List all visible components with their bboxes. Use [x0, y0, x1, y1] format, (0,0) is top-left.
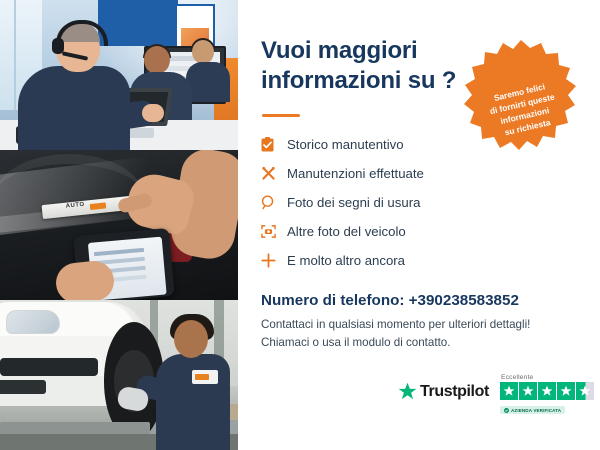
magnifier-icon [261, 193, 287, 213]
trustpilot-star-icon [398, 382, 417, 401]
list-item: Foto dei segni di usura [261, 188, 581, 217]
star-filled [519, 382, 537, 400]
technician-hand-lower [54, 259, 116, 300]
wall-panel [98, 0, 178, 46]
list-item-label: Storico manutentivo [287, 137, 404, 152]
car-lower-grille [0, 380, 46, 394]
list-item-label: Manutenzioni effettuate [287, 166, 424, 181]
star-filled [500, 382, 518, 400]
info-panel: Vuoi maggiori informazioni su ? Saremo f… [238, 0, 600, 450]
contact-note-line-2: Chiamaci o usa il modulo di contatto. [261, 336, 450, 349]
trustpilot-rating: Eccellente [500, 374, 598, 418]
phone-label: Numero di telefono: [261, 292, 404, 309]
phone-line: Numero di telefono: +390238583852 [261, 292, 519, 309]
phone-number[interactable]: +390238583852 [409, 292, 519, 309]
plus-icon [261, 251, 287, 271]
page-title: Vuoi maggiori informazioni su ? [261, 36, 471, 95]
verified-badge: AZIENDA VERIFICATA [500, 406, 565, 414]
list-item-label: Altre foto del veicolo [287, 224, 406, 239]
car-grille [0, 358, 98, 376]
mechanic-figure [152, 318, 238, 450]
list-item-label: Foto dei segni di usura [287, 195, 420, 210]
star-filled [557, 382, 575, 400]
trustpilot-rating-label: Eccellente [501, 374, 598, 381]
trustpilot-name: Trustpilot [420, 383, 489, 401]
list-item-label: E molto altro ancora [287, 253, 405, 268]
trustpilot-logo: Trustpilot [398, 382, 489, 401]
list-item: Manutenzioni effettuate [261, 159, 581, 188]
list-item: Altre foto del veicolo [261, 217, 581, 246]
star-filled [538, 382, 556, 400]
star-rating [500, 382, 598, 400]
star-half [576, 382, 594, 400]
wrench-cross-icon [261, 164, 287, 184]
trustpilot-widget[interactable]: Trustpilot Eccellente [398, 374, 598, 422]
mechanic-wheel-photo [0, 300, 238, 450]
clipboard-check-icon [261, 135, 287, 155]
heading-line-2: informazioni su ? [261, 66, 471, 96]
call-center-agent-photo [0, 0, 238, 150]
feature-list: Storico manutentivo Manutenzioni effettu… [261, 130, 581, 275]
promo-banner: Vuoi maggiori informazioni su ? Saremo f… [0, 0, 600, 450]
title-divider [262, 114, 300, 117]
photo-frame-icon [261, 222, 287, 242]
list-item: Storico manutentivo [261, 130, 581, 159]
list-item: E molto altro ancora [261, 246, 581, 275]
agent-hand [142, 104, 164, 122]
heading-line-1: Vuoi maggiori [261, 36, 471, 66]
verified-check-icon [504, 408, 509, 413]
contact-note-line-1: Contattaci in qualsiasi momento per ulte… [261, 318, 530, 331]
verified-label: AZIENDA VERIFICATA [511, 408, 561, 413]
car-inspection-ruler-photo [0, 150, 238, 300]
car-headlight [6, 310, 60, 334]
photo-strip [0, 0, 238, 450]
